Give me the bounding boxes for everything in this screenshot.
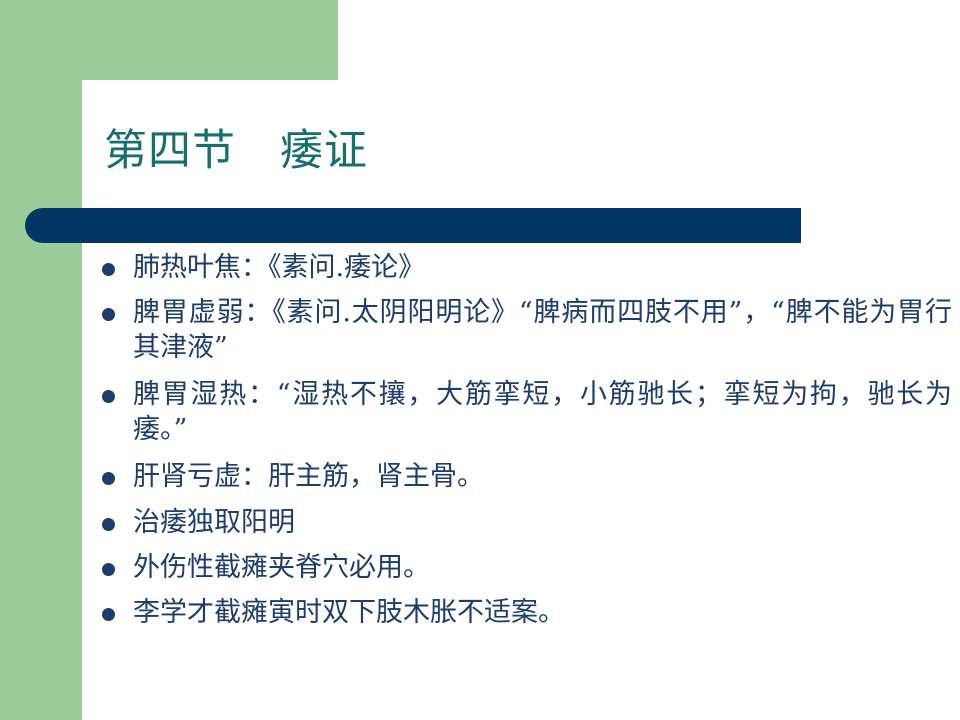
list-item-label: 李学才截瘫寅时双下肢木胀不适案。 <box>133 595 952 630</box>
list-item: 脾胃虚弱：《素问.太阴阳明论》“脾病而四肢不用”，“脾不能为胃行其津液” <box>96 295 952 365</box>
green-top-block-decoration <box>0 0 338 80</box>
list-item: 外伤性截瘫夹脊穴必用。 <box>96 550 952 585</box>
bullet-dot-icon <box>102 308 115 321</box>
list-item-label: 肺热叶焦：《素问.痿论》 <box>133 250 952 285</box>
list-item: 肺热叶焦：《素问.痿论》 <box>96 250 952 285</box>
bullet-dot-icon <box>102 563 115 576</box>
bullet-dot-icon <box>102 608 115 621</box>
page-title: 第四节 痿证 <box>104 127 368 176</box>
list-item-label: 肝肾亏虚：肝主筋，肾主骨。 <box>133 459 952 494</box>
list-item-label: 外伤性截瘫夹脊穴必用。 <box>133 550 952 585</box>
list-item: 李学才截瘫寅时双下肢木胀不适案。 <box>96 595 952 630</box>
list-item-label: 治痿独取阳明 <box>133 505 952 540</box>
bullet-dot-icon <box>102 518 115 531</box>
navy-accent-bar-decoration <box>25 208 801 243</box>
green-left-strip-decoration <box>0 0 82 720</box>
list-item: 脾胃湿热：“湿热不攘，大筋挛短，小筋驰长；挛短为拘，驰长为痿。” <box>96 377 952 447</box>
bullet-dot-icon <box>102 472 115 485</box>
slide-canvas: 第四节 痿证 肺热叶焦：《素问.痿论》 脾胃虚弱：《素问.太阴阳明论》“脾病而四… <box>0 0 960 720</box>
list-item-label: 脾胃湿热：“湿热不攘，大筋挛短，小筋驰长；挛短为拘，驰长为痿。” <box>133 377 952 447</box>
list-item-label: 脾胃虚弱：《素问.太阴阳明论》“脾病而四肢不用”，“脾不能为胃行其津液” <box>133 295 952 365</box>
list-item: 肝肾亏虚：肝主筋，肾主骨。 <box>96 459 952 494</box>
bullet-dot-icon <box>102 263 115 276</box>
list-item: 治痿独取阳明 <box>96 505 952 540</box>
bullet-list: 肺热叶焦：《素问.痿论》 脾胃虚弱：《素问.太阴阳明论》“脾病而四肢不用”，“脾… <box>96 250 952 640</box>
bullet-dot-icon <box>102 390 115 403</box>
